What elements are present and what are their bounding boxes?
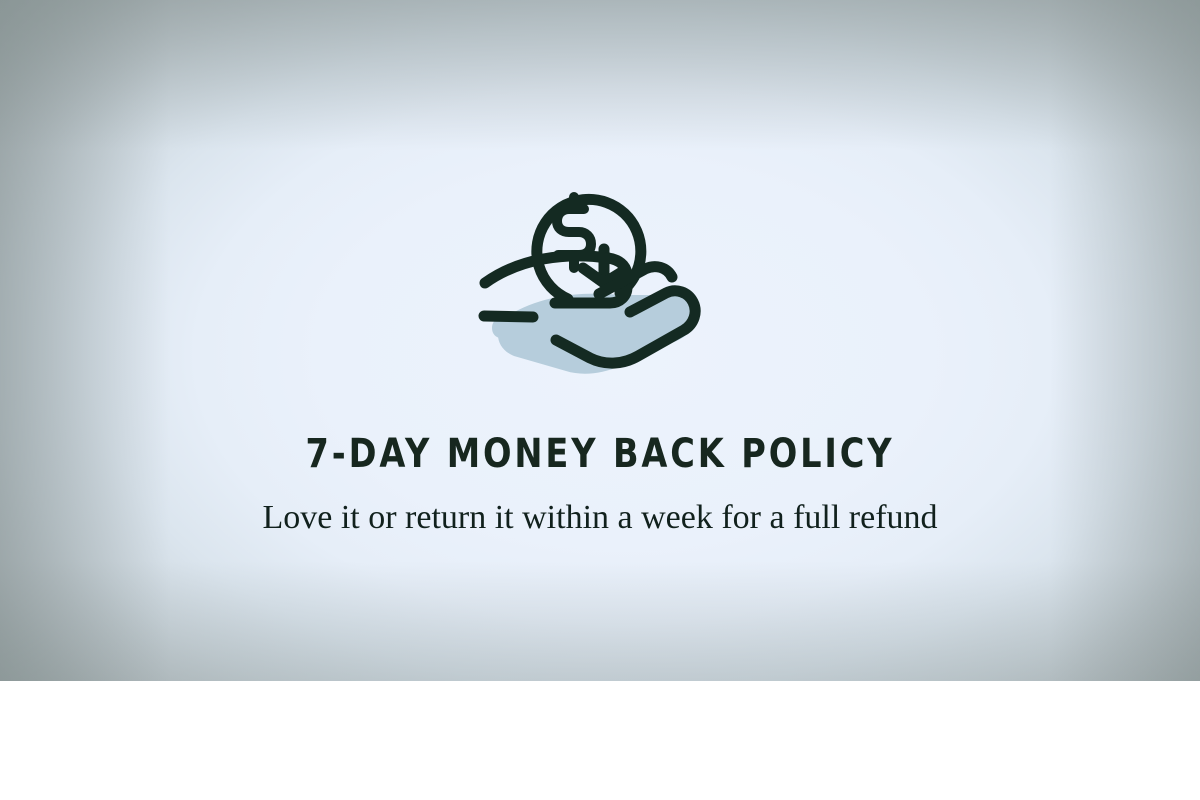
footer-bar: Rydell (701) 772-7211 rydellchev.com bbox=[0, 681, 1200, 800]
promo-card: 7-DAY MONEY BACK POLICY Love it or retur… bbox=[0, 0, 1200, 800]
money-back-hand-icon bbox=[470, 152, 730, 392]
page-title: 7-DAY MONEY BACK POLICY bbox=[96, 431, 1104, 477]
page-subtitle: Love it or return it within a week for a… bbox=[250, 495, 950, 540]
